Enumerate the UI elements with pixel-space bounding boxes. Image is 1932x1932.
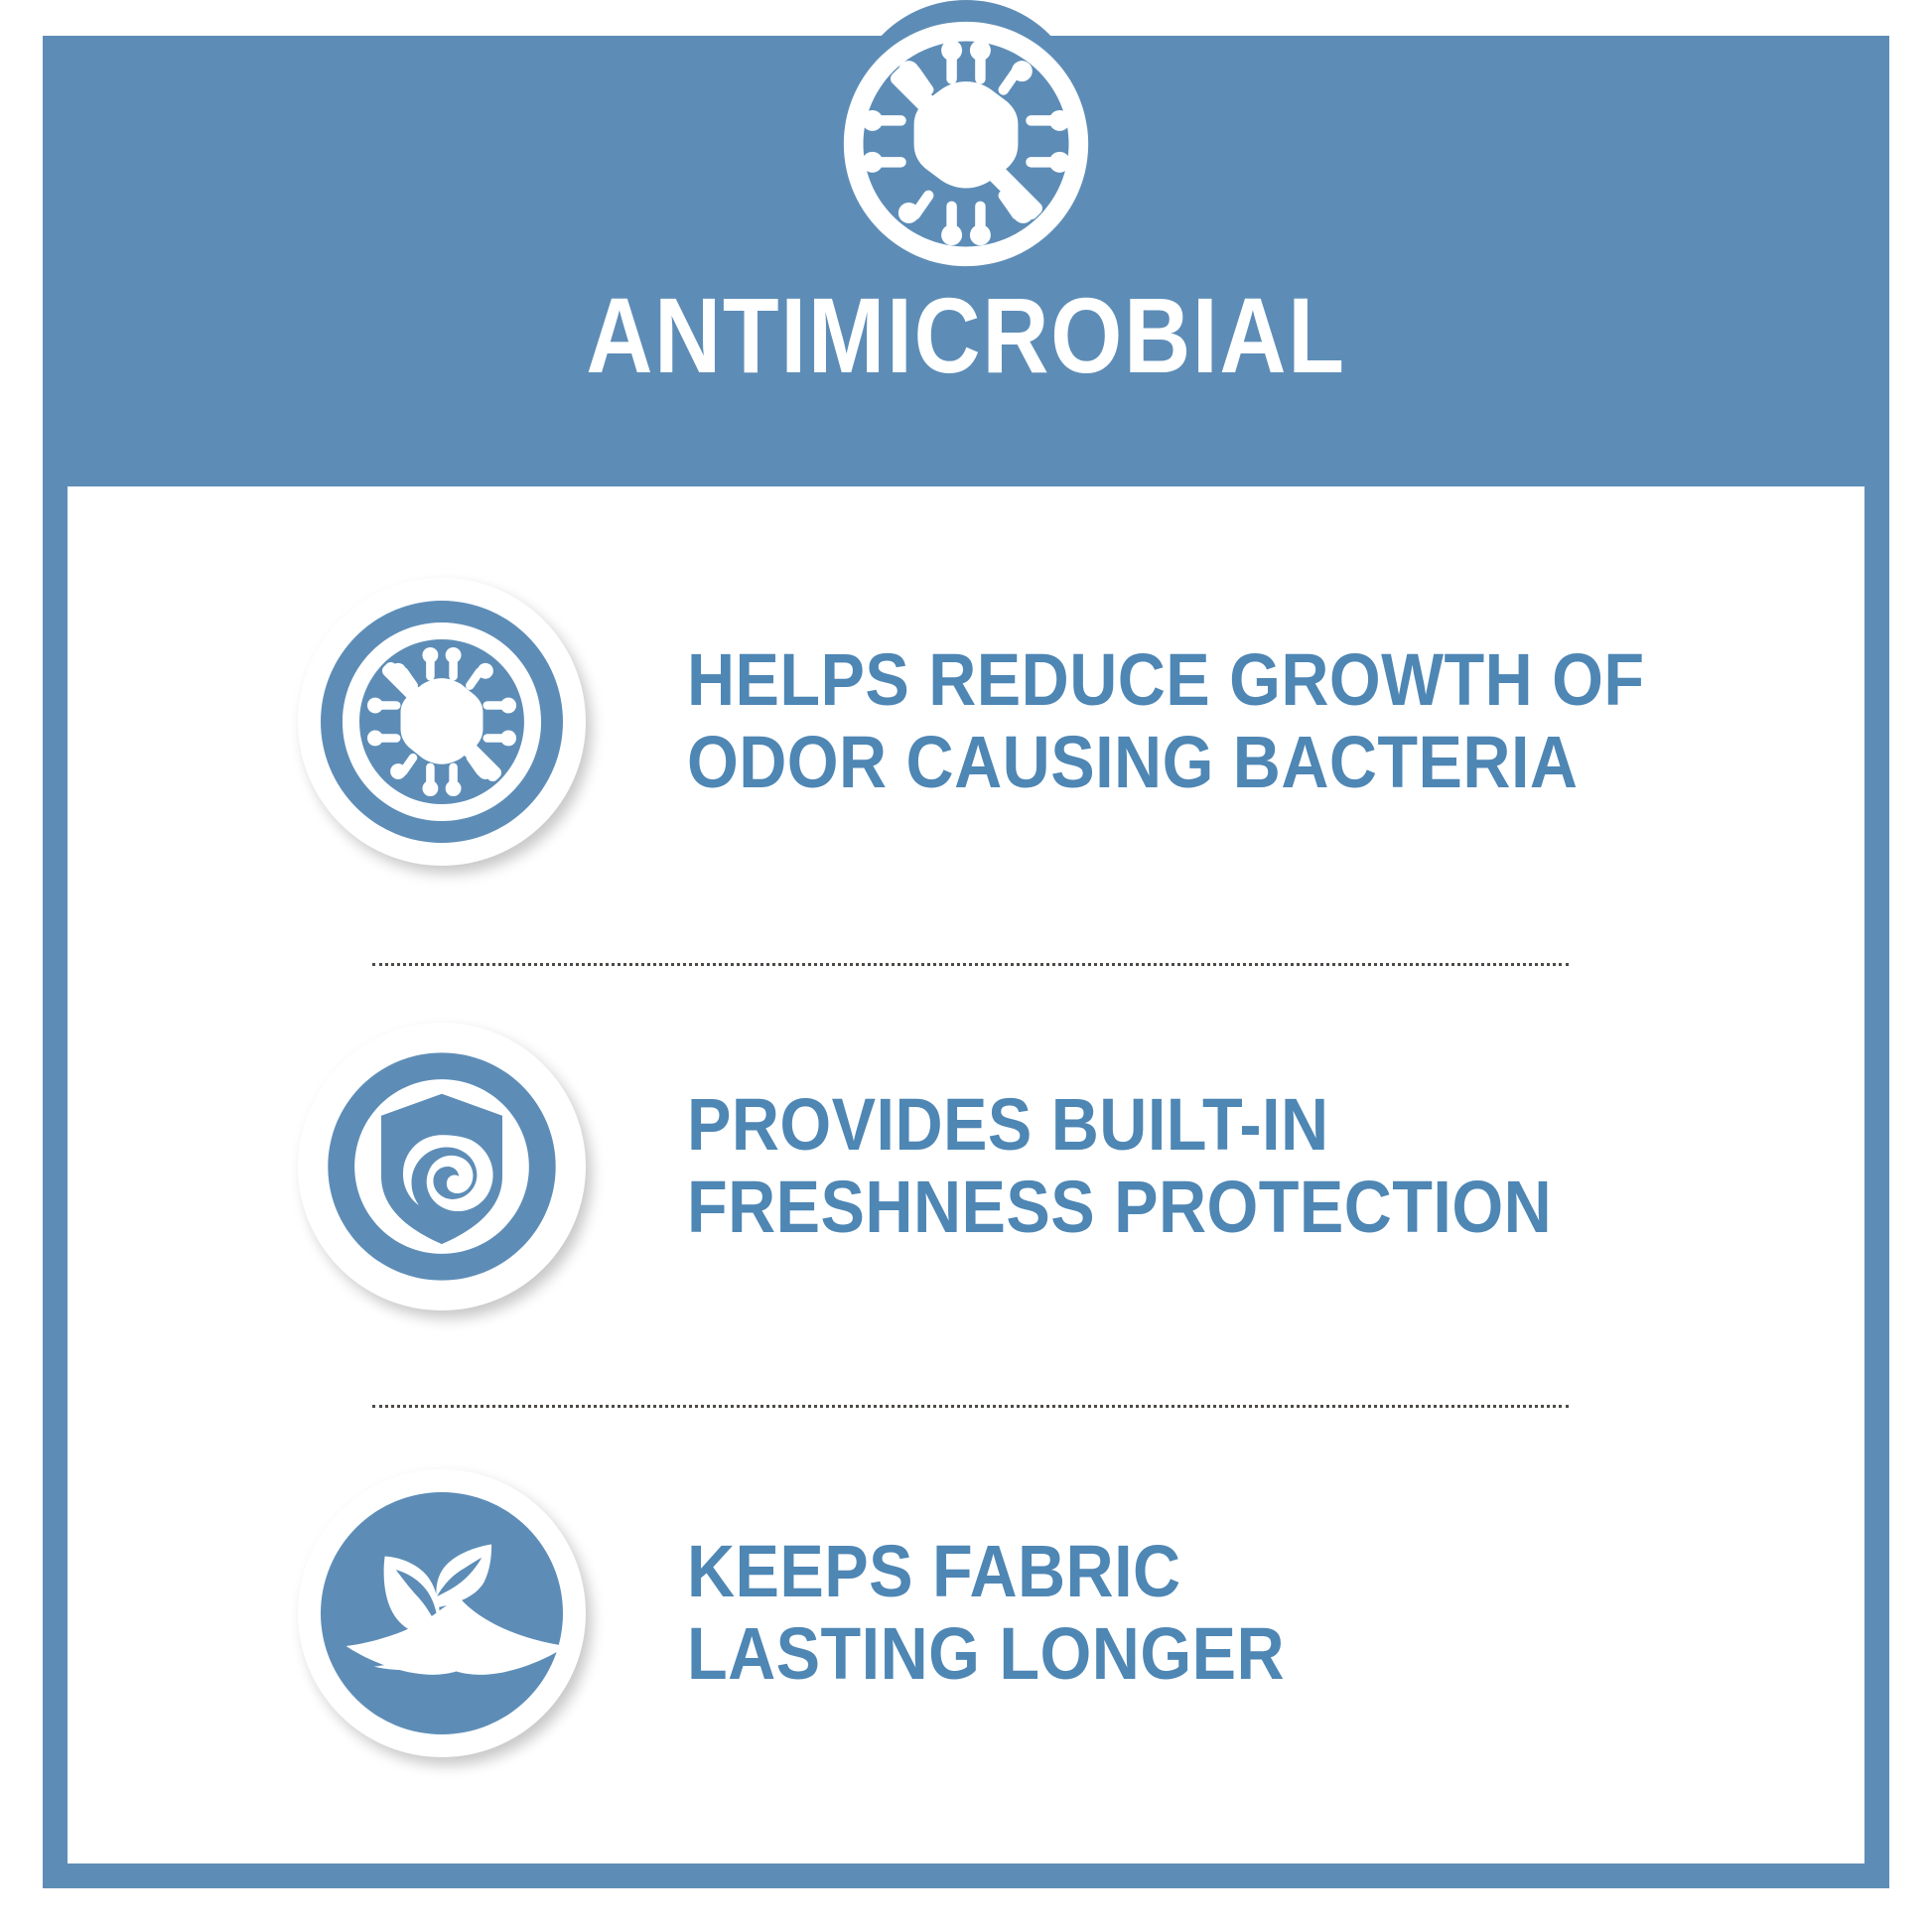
feature-row: HELPS REDUCE GROWTH OF ODOR CAUSING BACT… [68, 558, 1864, 886]
feature-list: HELPS REDUCE GROWTH OF ODOR CAUSING BACT… [68, 486, 1864, 1863]
divider-1 [372, 963, 1569, 966]
feature-line-1: KEEPS FABRIC [687, 1531, 1285, 1613]
header-band: ANTIMICROBIAL [43, 36, 1889, 486]
feature-row: PROVIDES BUILT-IN FRESHNESS PROTECTION [68, 1003, 1864, 1330]
feature-text: PROVIDES BUILT-IN FRESHNESS PROTECTION [687, 1084, 1552, 1249]
feature-line-1: HELPS REDUCE GROWTH OF [687, 639, 1645, 722]
antimicrobial-infographic: ANTIMICROBIAL [0, 0, 1932, 1932]
shield-swirl-icon [298, 1023, 586, 1311]
feature-text: KEEPS FABRIC LASTING LONGER [687, 1531, 1285, 1696]
feature-line-2: LASTING LONGER [687, 1613, 1285, 1696]
no-germs-circle-icon [298, 578, 586, 866]
leaf-sprout-icon [298, 1469, 586, 1757]
page-title: ANTIMICROBIAL [172, 282, 1760, 389]
divider-2 [372, 1405, 1569, 1408]
feature-row: KEEPS FABRIC LASTING LONGER [68, 1449, 1864, 1777]
feature-text: HELPS REDUCE GROWTH OF ODOR CAUSING BACT… [687, 639, 1645, 804]
feature-line-2: FRESHNESS PROTECTION [687, 1167, 1552, 1249]
no-germs-icon [836, 14, 1096, 274]
feature-line-2: ODOR CAUSING BACTERIA [687, 722, 1645, 804]
feature-line-1: PROVIDES BUILT-IN [687, 1084, 1552, 1167]
